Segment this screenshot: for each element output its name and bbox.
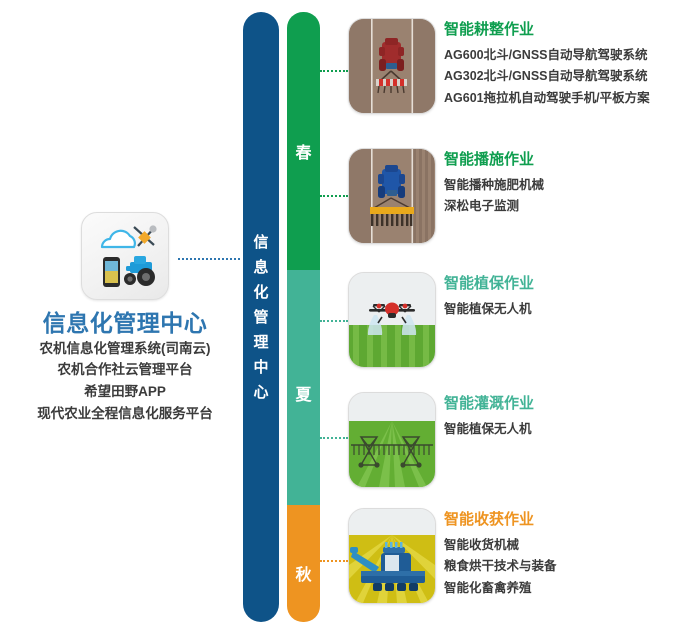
- row-text-block: 智能耕整作业 AG600北斗/GNSS自动导航驾驶系统 AG302北斗/GNSS…: [444, 20, 678, 109]
- row-text-block: 智能播施作业 智能播种施肥机械 深松电子监测: [444, 150, 678, 218]
- row-line: AG302北斗/GNSS自动导航驾驶系统: [444, 66, 678, 88]
- tractor-glyph: [124, 256, 155, 286]
- information-center-icon-wrap: [81, 212, 169, 300]
- list-item: 智能收获作业 智能收货机械 粮食烘干技术与装备 智能化畜禽养殖: [348, 508, 678, 616]
- season-timeline-bar: 春 夏 秋: [287, 12, 320, 622]
- row-line: 深松电子监测: [444, 196, 678, 218]
- spraying-drone-thumbnail: [348, 272, 436, 368]
- info-center-subline: 农机合作社云管理平台: [0, 359, 250, 381]
- row-line: 智能化畜禽养殖: [444, 578, 678, 600]
- season-row-connector: [320, 70, 348, 74]
- row-title: 智能收获作业: [444, 510, 678, 530]
- info-center-subline: 现代农业全程信息化服务平台: [0, 403, 250, 425]
- row-line: 粮食烘干技术与装备: [444, 556, 678, 578]
- list-item: 智能灌溉作业 智能植保无人机: [348, 392, 678, 500]
- info-center-subline: 希望田野APP: [0, 381, 250, 403]
- smartphone-glyph: [103, 257, 120, 287]
- spine-bar-label: 信 息 化 管 理 中 心: [243, 12, 279, 622]
- season-segment-summer: 夏: [287, 270, 320, 505]
- seeding-tractor-thumbnail: [348, 148, 436, 244]
- season-row-connector: [320, 560, 348, 564]
- info-center-connector-line: [178, 258, 240, 262]
- spine-char: 化: [253, 285, 268, 300]
- information-center-block: 信息化管理中心 农机信息化管理系统(司南云) 农机合作社云管理平台 希望田野AP…: [0, 212, 250, 425]
- list-item: 智能植保作业 智能植保无人机: [348, 272, 678, 380]
- seeder-bar-glyph: [370, 207, 414, 226]
- row-title: 智能耕整作业: [444, 20, 678, 40]
- spine-char: 息: [253, 260, 268, 275]
- spine-char: 管: [253, 310, 268, 325]
- season-label-spring: 春: [295, 139, 311, 163]
- spine-char: 理: [253, 335, 268, 350]
- cloud-satellite-phone-tractor-icon: [81, 212, 169, 300]
- season-row-connector: [320, 195, 348, 199]
- season-label-autumn: 秋: [295, 561, 311, 585]
- list-item: 智能耕整作业 AG600北斗/GNSS自动导航驾驶系统 AG302北斗/GNSS…: [348, 18, 678, 126]
- tillage-tractor-thumbnail: [348, 18, 436, 114]
- row-text-block: 智能植保作业 智能植保无人机: [444, 274, 678, 320]
- combine-harvester-thumbnail: [348, 508, 436, 604]
- season-segment-autumn: 秋: [287, 505, 320, 622]
- season-label-summer: 夏: [295, 381, 311, 405]
- row-line: AG601拖拉机自动驾驶手机/平板方案: [444, 88, 678, 110]
- spine-char: 中: [253, 360, 268, 375]
- row-title: 智能植保作业: [444, 274, 678, 294]
- page-title: 信息化管理中心: [0, 310, 250, 338]
- row-text-block: 智能收获作业 智能收货机械 粮食烘干技术与装备 智能化畜禽养殖: [444, 510, 678, 599]
- row-title: 智能播施作业: [444, 150, 678, 170]
- row-title: 智能灌溉作业: [444, 394, 678, 414]
- row-line: 智能植保无人机: [444, 419, 678, 441]
- season-segment-spring: 春: [287, 12, 320, 270]
- spine-char: 心: [253, 385, 268, 400]
- info-center-subline: 农机信息化管理系统(司南云): [0, 338, 250, 360]
- spine-char: 信: [253, 235, 268, 250]
- information-center-spine-bar: 信 息 化 管 理 中 心: [243, 12, 279, 622]
- season-row-connector: [320, 437, 348, 441]
- row-line: AG600北斗/GNSS自动导航驾驶系统: [444, 45, 678, 67]
- cloud-glyph: [102, 231, 135, 247]
- list-item: 智能播施作业 智能播种施肥机械 深松电子监测: [348, 148, 678, 256]
- row-line: 智能植保无人机: [444, 299, 678, 321]
- row-line: 智能播种施肥机械: [444, 175, 678, 197]
- pivot-irrigation-thumbnail: [348, 392, 436, 488]
- season-row-connector: [320, 320, 348, 324]
- row-text-block: 智能灌溉作业 智能植保无人机: [444, 394, 678, 440]
- row-line: 智能收货机械: [444, 535, 678, 557]
